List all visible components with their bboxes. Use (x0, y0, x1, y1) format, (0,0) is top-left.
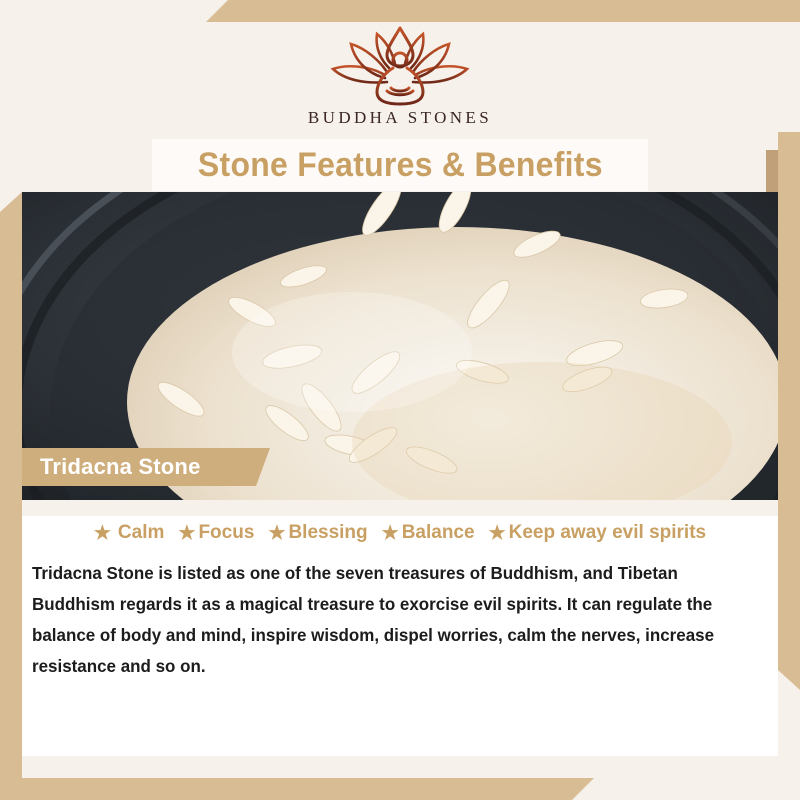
feature-item-blessing: ★ Blessing (268, 522, 367, 544)
panel-top-tint (22, 500, 778, 516)
bottom-decorative-band (0, 778, 594, 800)
stone-name-label: Tridacna Stone (22, 448, 270, 486)
feature-item-balance: ★ Balance (382, 522, 475, 544)
feature-label: Focus (198, 522, 254, 544)
feature-item-focus: ★ Focus (178, 522, 254, 544)
feature-label: Keep away evil spirits (509, 522, 707, 544)
feature-label: Balance (402, 522, 475, 544)
brand-name: BUDDHA STONES (308, 108, 492, 128)
stone-name-text: Tridacna Stone (22, 454, 201, 480)
star-icon: ★ (178, 524, 195, 543)
star-icon: ★ (94, 524, 111, 543)
content-panel: ★ Calm ★ Focus ★ Blessing ★ Balance ★ Ke… (22, 500, 778, 756)
promo-card: BUDDHA STONES Stone Features & Benefits (0, 0, 800, 800)
feature-item-keep-away-evil-spirits: ★ Keep away evil spirits (489, 522, 707, 544)
title-banner: Stone Features & Benefits (152, 139, 648, 191)
star-icon: ★ (268, 524, 285, 543)
feature-item-calm: ★ Calm (94, 522, 165, 544)
brand-logo: BUDDHA STONES (0, 22, 800, 142)
feature-label: Calm (118, 522, 164, 544)
description-text: Tridacna Stone is listed as one of the s… (32, 558, 748, 682)
page-title: Stone Features & Benefits (198, 146, 603, 185)
feature-list: ★ Calm ★ Focus ★ Blessing ★ Balance ★ Ke… (22, 522, 778, 544)
lotus-meditation-icon (325, 22, 475, 110)
top-decorative-band (206, 0, 800, 22)
star-icon: ★ (489, 524, 506, 543)
left-decorative-band (0, 192, 22, 778)
feature-label: Blessing (288, 522, 367, 544)
star-icon: ★ (382, 524, 399, 543)
right-decorative-band (778, 132, 800, 690)
